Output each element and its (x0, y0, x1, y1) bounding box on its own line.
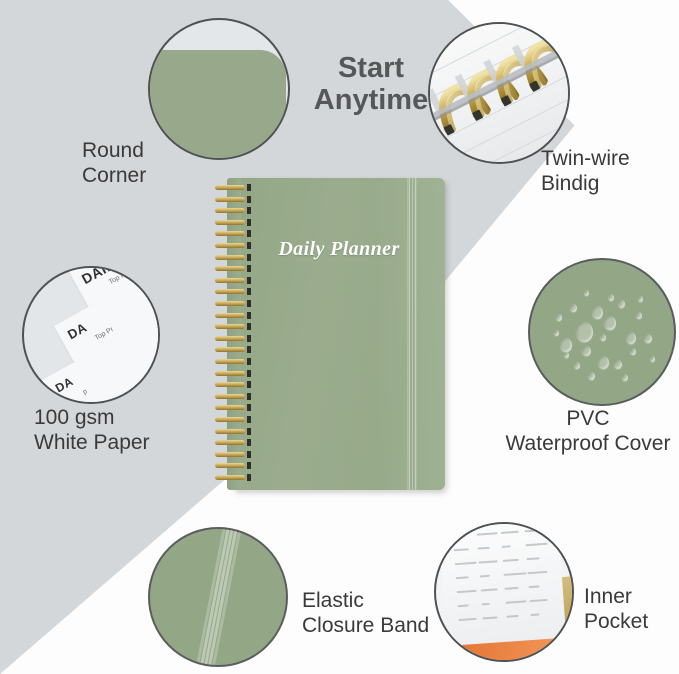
handwriting-mark (453, 535, 461, 538)
elastic-closure-band-on-cover (407, 178, 417, 490)
inner-pocket-icon (438, 522, 566, 646)
spiral-coil (215, 462, 251, 469)
spiral-coil (215, 242, 251, 249)
handwriting-mark (501, 531, 519, 534)
water-droplet (638, 296, 643, 302)
headline-start-anytime: Start Anytime (312, 52, 430, 116)
sheet-title: DA (53, 374, 76, 395)
handwriting-mark (477, 532, 498, 535)
spiral-coil (215, 196, 251, 203)
water-droplet (630, 348, 636, 355)
sheet-subtitle: Top Pr (94, 326, 115, 342)
handwriting-mark (528, 585, 539, 588)
handwriting-mark (530, 613, 539, 616)
feature-circle-round-corner (148, 18, 290, 160)
handwriting-mark (525, 529, 540, 532)
water-droplet (588, 372, 595, 380)
spiral-coil (215, 358, 251, 365)
daily-planner-product: Daily Planner (215, 178, 445, 490)
water-droplet (576, 322, 593, 342)
water-droplet (598, 356, 609, 369)
spiral-coil (215, 474, 251, 481)
water-droplet (608, 294, 614, 301)
spiral-coil (215, 439, 251, 446)
rounded-corner-icon (148, 50, 286, 160)
twin-wire-loops-svg (430, 24, 570, 164)
handwriting-mark (507, 615, 519, 618)
spiral-coil (215, 288, 251, 295)
handwriting-mark (526, 543, 548, 547)
water-droplet (626, 332, 636, 344)
water-droplet (614, 360, 622, 369)
handwriting-mark (504, 572, 527, 576)
handwriting-mark (502, 545, 511, 548)
feature-circle-paper: DAILY PLTop PrioritiesDATop PrDAp (22, 266, 160, 404)
spiral-coil (215, 335, 251, 342)
handwriting-mark (456, 576, 469, 579)
feature-label-pvc: PVC Waterproof Cover (497, 406, 679, 456)
spiral-coil (215, 346, 251, 353)
water-droplet (554, 330, 559, 336)
feature-label-round-corner: Round Corner (82, 138, 146, 188)
spiral-coil (215, 416, 251, 423)
spiral-coil (215, 277, 251, 284)
handwriting-mark (529, 599, 547, 602)
handwriting-mark (503, 559, 519, 562)
spiral-coil (215, 207, 251, 214)
handwriting-mark (454, 548, 469, 551)
handwriting-mark (457, 590, 477, 593)
handwriting-mark (480, 575, 490, 578)
spiral-coil (215, 219, 251, 226)
sheet-subtitle: p (82, 388, 89, 396)
water-droplet (564, 352, 569, 358)
spiral-coil (215, 323, 251, 330)
spiral-coil (215, 184, 251, 191)
handwriting-mark (505, 587, 519, 590)
feature-circle-elastic (148, 527, 288, 667)
handwriting-mark (506, 600, 527, 603)
water-droplet (636, 312, 642, 319)
feature-label-inner-pocket: Inner Pocket (584, 584, 648, 634)
water-droplet (622, 374, 628, 381)
feature-circle-pvc (528, 258, 676, 406)
water-droplet (644, 334, 652, 343)
spiral-coil (215, 404, 251, 411)
spiral-coil (215, 265, 251, 272)
handwriting-mark (459, 618, 477, 621)
water-droplet (650, 356, 655, 362)
handwriting-mark (458, 604, 469, 607)
spiral-coil (215, 230, 251, 237)
feature-circle-inner-pocket (434, 522, 574, 662)
feature-circle-twin-wire (428, 22, 570, 164)
handwriting-mark (528, 571, 548, 574)
water-droplet (570, 304, 577, 312)
handwriting-mark (482, 603, 490, 606)
handwriting-mark (455, 562, 477, 566)
spiral-coil (215, 451, 251, 458)
water-droplet (584, 290, 589, 296)
spiral-coil (215, 428, 251, 435)
water-droplet (556, 314, 562, 321)
feature-label-twin-wire: Twin-wire Bindig (541, 146, 630, 196)
water-droplet (582, 346, 591, 356)
water-droplet (618, 300, 625, 308)
water-droplet (560, 338, 572, 352)
water-droplet (592, 306, 603, 319)
water-droplet (604, 316, 616, 330)
feature-label-elastic: Elastic Closure Band (302, 588, 429, 638)
spiral-coil (215, 312, 251, 319)
infographic-canvas: Daily Planner Round Corner Start Anytime (0, 0, 679, 674)
handwriting-mark (481, 588, 498, 591)
handwriting-mark (478, 547, 490, 550)
spiral-coil (215, 381, 251, 388)
spiral-coil (215, 300, 251, 307)
feature-label-paper: 100 gsm White Paper (34, 405, 150, 455)
planner-cover: Daily Planner (233, 178, 445, 490)
handwriting-mark (479, 560, 498, 563)
spiral-coil (215, 254, 251, 261)
spiral-coil (215, 393, 251, 400)
sheet-title: DA (65, 320, 90, 343)
water-droplet (600, 334, 606, 341)
planner-cover-title: Daily Planner (233, 238, 445, 261)
handwriting-mark (527, 557, 540, 560)
spiral-coil (215, 370, 251, 377)
water-droplet (574, 362, 580, 369)
handwriting-mark (483, 616, 498, 619)
